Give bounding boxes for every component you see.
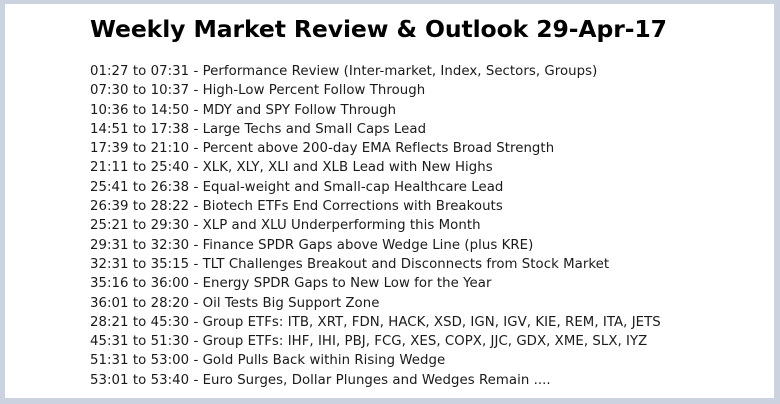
segment-separator: - [193,238,198,253]
segment-description: Finance SPDR Gaps above Wedge Line (plus… [203,238,534,253]
list-item: 14:51 to 17:38 - Large Techs and Small C… [90,120,768,139]
document-page: Weekly Market Review & Outlook 29-Apr-17… [0,0,780,404]
list-item: 29:31 to 32:30 - Finance SPDR Gaps above… [90,236,768,255]
segment-timecode: 53:01 to 53:40 [90,373,189,388]
segment-separator: - [193,83,198,98]
list-item: 32:31 to 35:15 - TLT Challenges Breakout… [90,255,768,274]
segment-description: Oil Tests Big Support Zone [203,296,380,311]
segment-separator: - [193,141,198,156]
segment-timecode: 51:31 to 53:00 [90,353,189,368]
segment-description: MDY and SPY Follow Through [203,103,396,118]
segment-separator: - [193,373,198,388]
list-item: 10:36 to 14:50 - MDY and SPY Follow Thro… [90,101,768,120]
list-item: 25:41 to 26:38 - Equal-weight and Small-… [90,178,768,197]
segment-description: Percent above 200-day EMA Reflects Broad… [203,141,555,156]
segment-timecode: 45:31 to 51:30 [90,334,189,349]
list-item: 17:39 to 21:10 - Percent above 200-day E… [90,139,768,158]
segment-description: Equal-weight and Small-cap Healthcare Le… [203,180,504,195]
segment-timecode: 26:39 to 28:22 [90,199,189,214]
segment-description: Performance Review (Inter-market, Index,… [203,64,598,79]
list-item: 45:31 to 51:30 - Group ETFs: IHF, IHI, P… [90,332,768,351]
segment-separator: - [193,315,198,330]
segment-description: XLP and XLU Underperforming this Month [203,218,481,233]
segment-separator: - [193,199,198,214]
segment-timecode: 17:39 to 21:10 [90,141,189,156]
list-item: 01:27 to 07:31 - Performance Review (Int… [90,62,768,81]
segment-description: XLK, XLY, XLI and XLB Lead with New High… [203,160,493,175]
list-item: 07:30 to 10:37 - High-Low Percent Follow… [90,81,768,100]
segment-timecode: 21:11 to 25:40 [90,160,189,175]
segment-timecode: 01:27 to 07:31 [90,64,189,79]
segment-description: High-Low Percent Follow Through [203,83,426,98]
segment-separator: - [193,257,198,272]
document-content: Weekly Market Review & Outlook 29-Apr-17… [90,14,768,390]
list-item: 53:01 to 53:40 - Euro Surges, Dollar Plu… [90,371,768,390]
list-item: 21:11 to 25:40 - XLK, XLY, XLI and XLB L… [90,158,768,177]
segment-separator: - [193,296,198,311]
segment-description: TLT Challenges Breakout and Disconnects … [203,257,610,272]
segment-description: Energy SPDR Gaps to New Low for the Year [203,276,492,291]
list-item: 26:39 to 28:22 - Biotech ETFs End Correc… [90,197,768,216]
segment-timecode: 14:51 to 17:38 [90,122,189,137]
segment-separator: - [193,218,198,233]
list-item: 51:31 to 53:00 - Gold Pulls Back within … [90,351,768,370]
segment-timecode: 25:41 to 26:38 [90,180,189,195]
segment-separator: - [193,353,198,368]
segment-timecode: 29:31 to 32:30 [90,238,189,253]
page-title: Weekly Market Review & Outlook 29-Apr-17 [90,14,768,44]
segment-description: Gold Pulls Back within Rising Wedge [203,353,446,368]
segment-description: Large Techs and Small Caps Lead [203,122,427,137]
segment-timecode: 36:01 to 28:20 [90,296,189,311]
segment-timecode: 32:31 to 35:15 [90,257,189,272]
segment-list: 01:27 to 07:31 - Performance Review (Int… [90,62,768,390]
segment-timecode: 25:21 to 29:30 [90,218,189,233]
segment-separator: - [193,180,198,195]
segment-separator: - [193,122,198,137]
segment-timecode: 28:21 to 45:30 [90,315,189,330]
list-item: 28:21 to 45:30 - Group ETFs: ITB, XRT, F… [90,313,768,332]
list-item: 35:16 to 36:00 - Energy SPDR Gaps to New… [90,274,768,293]
segment-timecode: 10:36 to 14:50 [90,103,189,118]
segment-description: Biotech ETFs End Corrections with Breako… [203,199,503,214]
list-item: 36:01 to 28:20 - Oil Tests Big Support Z… [90,294,768,313]
segment-description: Group ETFs: IHF, IHI, PBJ, FCG, XES, COP… [203,334,648,349]
segment-timecode: 07:30 to 10:37 [90,83,189,98]
segment-separator: - [193,160,198,175]
segment-separator: - [193,276,198,291]
segment-timecode: 35:16 to 36:00 [90,276,189,291]
segment-separator: - [193,64,198,79]
segment-separator: - [193,103,198,118]
segment-separator: - [193,334,198,349]
segment-description: Euro Surges, Dollar Plunges and Wedges R… [203,373,551,388]
segment-description: Group ETFs: ITB, XRT, FDN, HACK, XSD, IG… [203,315,661,330]
list-item: 25:21 to 29:30 - XLP and XLU Underperfor… [90,216,768,235]
